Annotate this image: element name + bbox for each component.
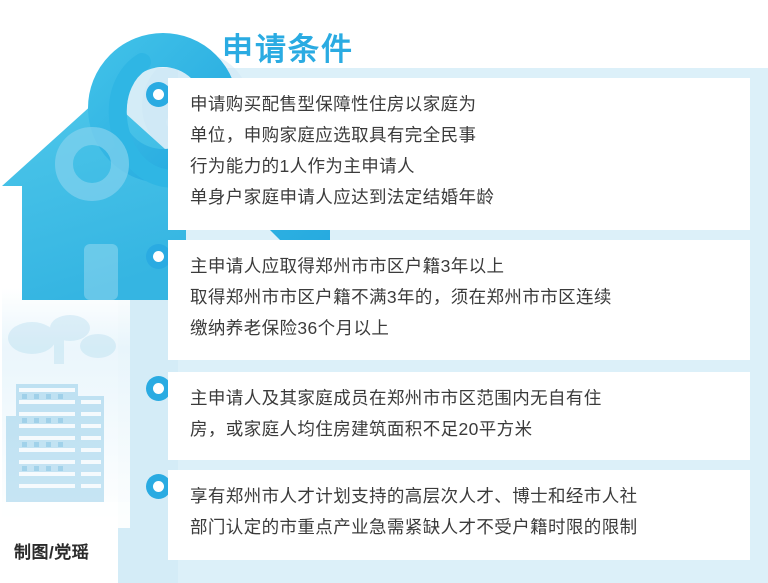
condition-line: 主申请人及其家庭成员在郑州市市区范围内无自有住 — [190, 383, 736, 414]
condition-line: 缴纳养老保险36个月以上 — [190, 313, 736, 344]
condition-line: 主申请人应取得郑州市市区户籍3年以上 — [190, 251, 736, 282]
condition-line: 行为能力的1人作为主申请人 — [190, 151, 736, 182]
condition-card-3: 主申请人及其家庭成员在郑州市市区范围内无自有住 房，或家庭人均住房建筑面积不足2… — [168, 372, 750, 460]
credit-text: 制图/党瑶 — [14, 538, 89, 563]
condition-line: 单位，申购家庭应选取具有完全民事 — [190, 120, 736, 151]
apartment-building-photo — [2, 288, 130, 528]
condition-card-2: 主申请人应取得郑州市市区户籍3年以上 取得郑州市市区户籍不满3年的，须在郑州市市… — [168, 240, 750, 360]
condition-line: 房，或家庭人均住房建筑面积不足20平方米 — [190, 414, 736, 445]
condition-line: 取得郑州市市区户籍不满3年的，须在郑州市市区连续 — [190, 282, 736, 313]
condition-card-1: 申请购买配售型保障性住房以家庭为 单位，申购家庭应选取具有完全民事 行为能力的1… — [168, 78, 750, 230]
page-title: 申请条件 — [222, 24, 354, 69]
condition-line: 享有郑州市人才计划支持的高层次人才、博士和经市人社 — [190, 481, 736, 512]
condition-line: 部门认定的市重点产业急需紧缺人才不受户籍时限的限制 — [190, 512, 736, 543]
condition-card-4: 享有郑州市人才计划支持的高层次人才、博士和经市人社 部门认定的市重点产业急需紧缺… — [168, 470, 750, 560]
condition-line: 单身户家庭申请人应达到法定结婚年龄 — [190, 182, 736, 213]
infographic-root: 申请条件 申请购买配售型保障性住房以家庭为 单位，申购家庭应选取具有完全民事 行… — [0, 0, 768, 583]
condition-line: 申请购买配售型保障性住房以家庭为 — [190, 89, 736, 120]
